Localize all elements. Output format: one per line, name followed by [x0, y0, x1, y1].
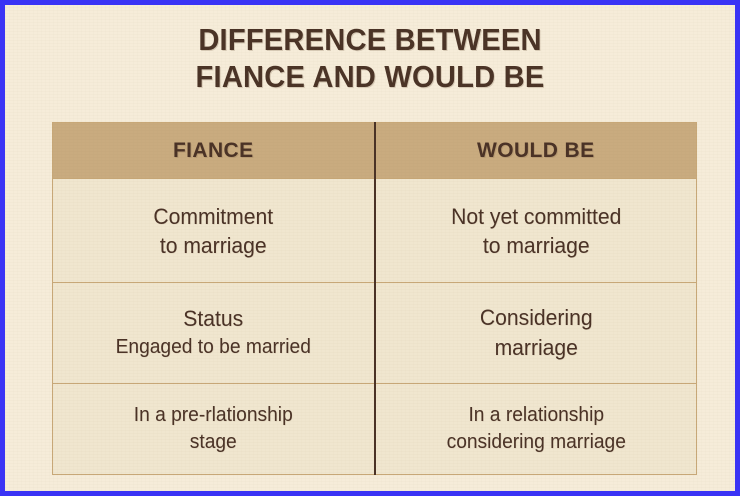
cell-would-be-status: Considering marriage: [375, 283, 697, 384]
cell-line-1: In a relationship: [382, 402, 690, 429]
cell-would-be-relationship: In a relationship considering marriage: [375, 384, 697, 475]
infographic-page: DIFFERENCE BETWEEN FIANCE AND WOULD BE F…: [0, 0, 740, 496]
page-title-line-1: DIFFERENCE BETWEEN: [27, 21, 713, 58]
cell-line-1: Considering: [382, 303, 690, 333]
cell-fiance-status: Status Engaged to be married: [53, 283, 375, 384]
cell-line-1: Commitment: [59, 202, 367, 231]
cell-text: Commitment to marriage: [59, 202, 367, 260]
comparison-table: FIANCE WOULD BE Commitment to marriage N…: [52, 122, 697, 475]
page-title: DIFFERENCE BETWEEN FIANCE AND WOULD BE: [27, 21, 713, 95]
cell-line-1: In a pre-rlationship: [59, 402, 367, 429]
table-row: Commitment to marriage Not yet committed…: [53, 179, 697, 283]
cell-line-2: to marriage: [382, 231, 690, 260]
cell-fiance-relationship: In a pre-rlationship stage: [53, 384, 375, 475]
cell-text: Not yet committed to marriage: [382, 202, 690, 260]
cell-line-2: stage: [59, 429, 367, 456]
table-header: FIANCE WOULD BE: [53, 123, 697, 179]
cell-text: In a relationship considering marriage: [382, 402, 690, 456]
cell-fiance-commitment: Commitment to marriage: [53, 179, 375, 283]
table-row: In a pre-rlationship stage In a relation…: [53, 384, 697, 475]
cell-line-2: to marriage: [59, 231, 367, 260]
column-header-fiance: FIANCE: [53, 123, 375, 179]
table-row: Status Engaged to be married Considering…: [53, 283, 697, 384]
cell-line-1: Not yet committed: [382, 202, 690, 231]
column-header-would-be: WOULD BE: [375, 123, 697, 179]
cell-line-2: marriage: [382, 333, 690, 363]
cell-line-1: Status: [59, 305, 367, 333]
cell-would-be-commitment: Not yet committed to marriage: [375, 179, 697, 283]
cell-text: Considering marriage: [382, 303, 690, 363]
cell-line-2: considering marriage: [382, 429, 690, 456]
page-title-line-2: FIANCE AND WOULD BE: [27, 58, 713, 95]
cell-text: In a pre-rlationship stage: [59, 402, 367, 456]
table-body: Commitment to marriage Not yet committed…: [53, 179, 697, 475]
cell-text: Status Engaged to be married: [59, 305, 367, 361]
cell-line-2: Engaged to be married: [59, 333, 367, 361]
table-header-row: FIANCE WOULD BE: [53, 123, 697, 179]
